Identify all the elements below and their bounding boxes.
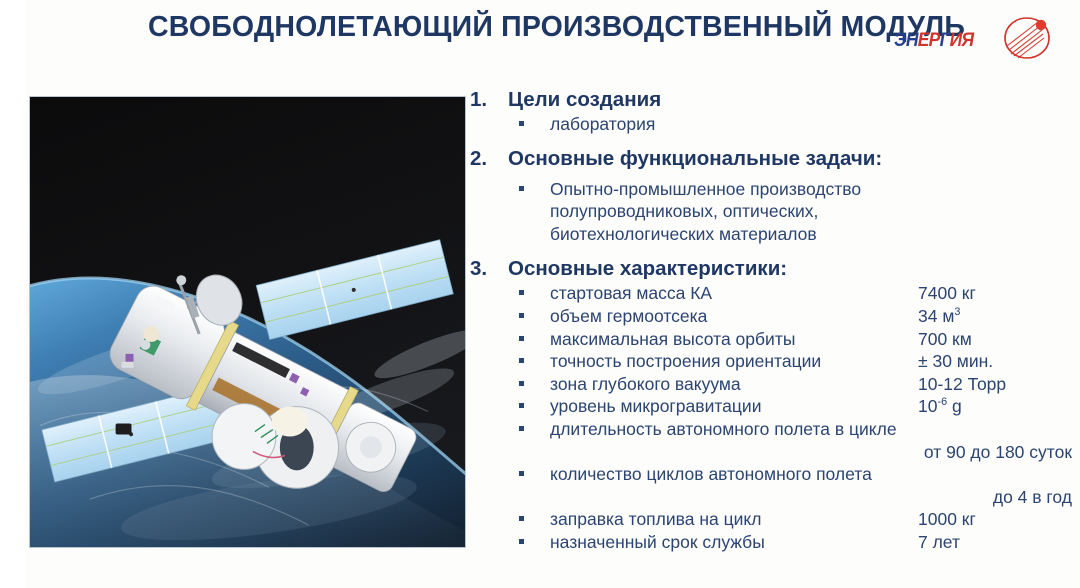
slide-header: СВОБОДНОЛЕТАЮЩИЙ ПРОИЗВОДСТВЕННЫЙ МОДУЛЬ… — [0, 0, 1080, 70]
bullet-square-icon — [519, 426, 524, 431]
spec-value: 10-6 g — [918, 395, 962, 418]
content-column: 1. Цели создания лаборатория 2. Основные… — [466, 86, 1080, 588]
spec-value: 7400 кг — [918, 282, 976, 305]
list-item-label-line1: Опытно-промышленное производство — [550, 179, 861, 199]
spec-label: зона глубокого вакуума — [550, 373, 741, 396]
section-3-number: 3. — [470, 255, 500, 282]
spec-row: зона глубокого вакуума 10-12 Торр — [466, 373, 1080, 396]
spec-row: уровень микрогравитации 10-6 g — [466, 395, 1080, 418]
bullet-square-icon — [519, 471, 524, 476]
spec-label: точность построения ориентации — [550, 350, 821, 373]
spec-value-exponent: 3 — [954, 306, 960, 318]
energia-logo-wordmark: ЭНЕРГИЯ — [894, 30, 973, 52]
section-3-title: Основные характеристики: — [508, 257, 787, 280]
spec-value: 10-12 Торр — [918, 373, 1006, 396]
spec-label: уровень микрогравитации — [550, 395, 761, 418]
section-2-heading: 2. Основные функциональные задачи: — [466, 145, 1080, 172]
list-item: Опытно-промышленное производство — [466, 178, 1080, 201]
energia-logo: ЭНЕРГИЯ — [892, 14, 1066, 62]
bullet-square-icon — [519, 336, 524, 341]
spec-value-exponent: -6 — [937, 397, 947, 409]
spec-value: 34 м3 — [918, 305, 960, 328]
section-1-title: Цели создания — [508, 88, 661, 111]
spec-row: длительность автономного полета в цикле — [466, 418, 1080, 441]
spec-label: количество циклов автономного полета — [550, 463, 872, 486]
bullet-square-icon — [519, 313, 524, 318]
spec-list: стартовая масса КА 7400 кг объем гермоот… — [466, 282, 1080, 553]
spec-label: стартовая масса КА — [550, 282, 712, 305]
list-item: лаборатория — [466, 113, 1080, 136]
section-1-list: лаборатория — [466, 113, 1080, 136]
list-item-continuation: биотехнологических материалов — [466, 223, 1080, 246]
page-title: СВОБОДНОЛЕТАЮЩИЙ ПРОИЗВОДСТВЕННЫЙ МОДУЛЬ — [148, 11, 965, 44]
spec-row: заправка топлива на цикл 1000 кг — [466, 508, 1080, 531]
spacecraft-illustration-svg — [30, 97, 465, 547]
bullet-square-icon — [519, 186, 524, 191]
spec-label: заправка топлива на цикл — [550, 508, 761, 531]
bullet-square-icon — [519, 403, 524, 408]
spec-value-continuation: до 4 в год — [466, 486, 1080, 509]
spec-value: 700 км — [918, 328, 972, 351]
list-item-label: лаборатория — [550, 114, 655, 134]
spec-value: от 90 до 180 суток — [924, 442, 1072, 462]
section-3: 3. Основные характеристики: стартовая ма… — [466, 255, 1080, 553]
energia-logo-mark-icon — [996, 14, 1058, 62]
spec-value-continuation: от 90 до 180 суток — [466, 441, 1080, 464]
section-1: 1. Цели создания лаборатория — [466, 86, 1080, 136]
bullet-square-icon — [519, 516, 524, 521]
spec-row: точность построения ориентации ± 30 мин. — [466, 350, 1080, 373]
spec-label: объем гермоотсека — [550, 305, 707, 328]
spec-row: объем гермоотсека 34 м3 — [466, 305, 1080, 328]
spacecraft-illustration — [29, 96, 466, 548]
section-1-heading: 1. Цели создания — [466, 86, 1080, 113]
spec-row: назначенный срок службы 7 лет — [466, 531, 1080, 554]
section-2: 2. Основные функциональные задачи: Опытн… — [466, 145, 1080, 246]
spec-value: 1000 кг — [918, 508, 976, 531]
section-1-number: 1. — [470, 86, 500, 113]
bullet-square-icon — [519, 121, 524, 126]
spec-value-base: 34 м — [918, 306, 954, 326]
spec-label: максимальная высота орбиты — [550, 328, 795, 351]
section-3-heading: 3. Основные характеристики: — [466, 255, 1080, 282]
spec-row: максимальная высота орбиты 700 км — [466, 328, 1080, 351]
spec-value: 7 лет — [918, 531, 960, 554]
spec-value-unit: g — [947, 396, 962, 416]
list-item-label-line3: биотехнологических материалов — [550, 224, 817, 244]
spec-row: стартовая масса КА 7400 кг — [466, 282, 1080, 305]
list-item-label-line2: полупроводниковых, оптических, — [550, 201, 818, 221]
section-2-title: Основные функциональные задачи: — [508, 147, 882, 170]
slide-root: СВОБОДНОЛЕТАЮЩИЙ ПРОИЗВОДСТВЕННЫЙ МОДУЛЬ… — [0, 0, 1080, 588]
spec-label: длительность автономного полета в цикле — [550, 418, 897, 441]
spec-label: назначенный срок службы — [550, 531, 765, 554]
spec-value: ± 30 мин. — [918, 350, 993, 373]
bullet-square-icon — [519, 381, 524, 386]
list-item-continuation: полупроводниковых, оптических, — [466, 200, 1080, 223]
bullet-square-icon — [519, 290, 524, 295]
bullet-square-icon — [519, 358, 524, 363]
section-2-list: Опытно-промышленное производство полупро… — [466, 178, 1080, 246]
bullet-square-icon — [519, 539, 524, 544]
section-2-number: 2. — [470, 145, 500, 172]
spec-value-base: 10 — [918, 396, 937, 416]
spec-value: до 4 в год — [993, 487, 1072, 507]
spec-row: количество циклов автономного полета — [466, 463, 1080, 486]
